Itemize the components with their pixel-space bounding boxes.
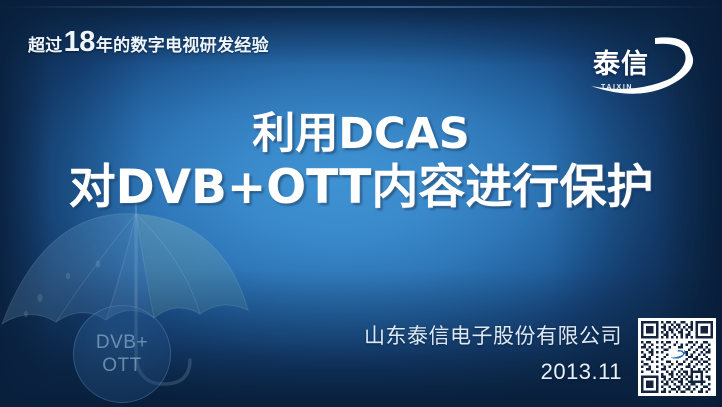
- tagline-number: 18: [63, 28, 96, 57]
- presentation-slide: DVB+ OTT 超过18年的数字电视研发经验 泰信 TAIXIN 利用DCAS…: [0, 0, 722, 407]
- slide-top-sheen: [0, 6, 722, 8]
- qr-code[interactable]: [638, 318, 716, 396]
- logo-english-name: TAIXIN: [601, 84, 633, 91]
- tagline-suffix: 年的数字电视研发经验: [96, 31, 269, 56]
- tagline: 超过18年的数字电视研发经验: [28, 28, 269, 57]
- slide-footer: 山东泰信电子股份有限公司 2013.11: [364, 320, 622, 385]
- title-line-1: 利用DCAS: [0, 108, 722, 160]
- tagline-prefix: 超过: [28, 31, 63, 56]
- title-line-2: 对DVB+OTT内容进行保护: [0, 160, 722, 216]
- company-logo: 泰信 TAIXIN: [585, 24, 705, 102]
- logo-chinese-name: 泰信: [593, 42, 649, 81]
- qr-center-logo-icon: [668, 348, 685, 360]
- presentation-date: 2013.11: [364, 359, 622, 385]
- company-name: 山东泰信电子股份有限公司: [364, 320, 622, 350]
- slide-title: 利用DCAS 对DVB+OTT内容进行保护: [0, 108, 722, 216]
